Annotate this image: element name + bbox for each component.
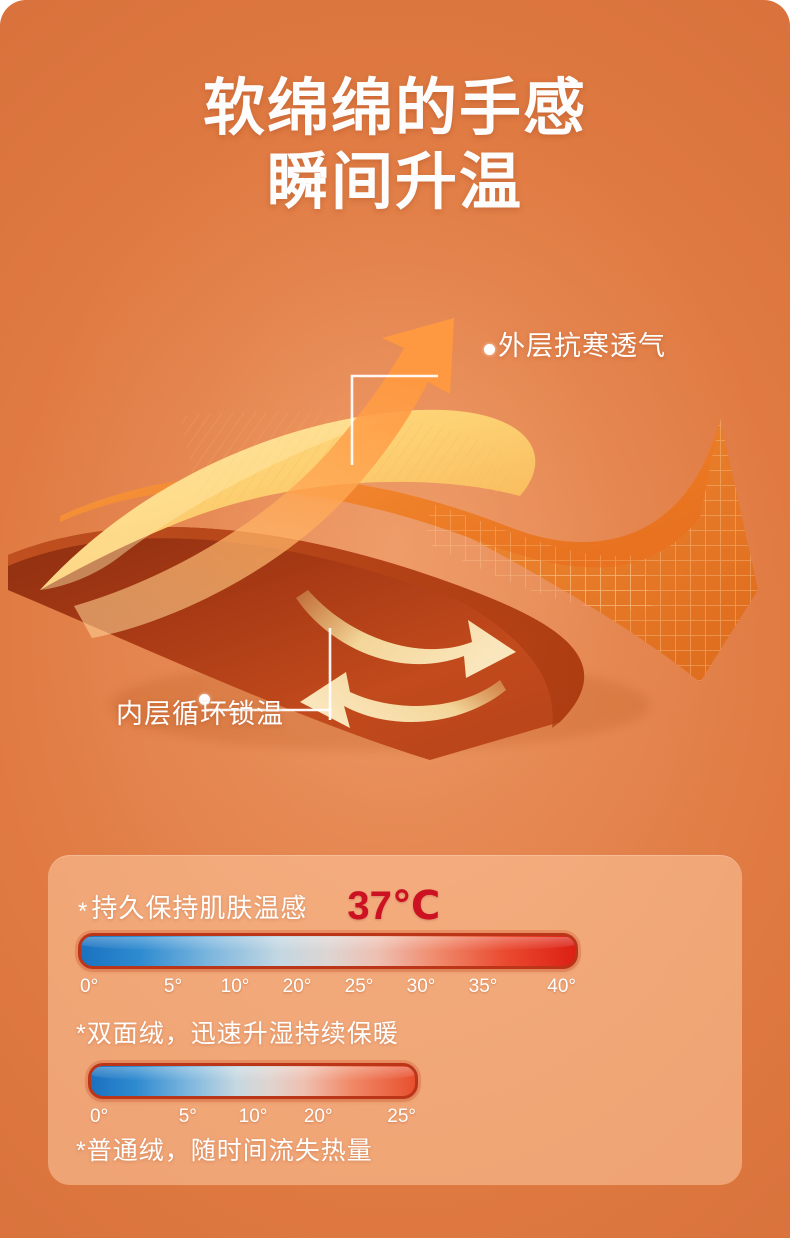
tick-label: 25° — [328, 976, 390, 998]
temperature-ticks-2: 0° 5° 10° 20° 25° — [88, 1106, 418, 1128]
tick-label: 20° — [266, 976, 328, 998]
normal-fleece-caption: *普通绒，随时间流失热量 — [76, 1131, 373, 1167]
tick-label: 0° — [88, 1106, 155, 1128]
tick-label: 35° — [452, 976, 514, 998]
temperature-ticks-1: 0° 5° 10° 20° 25° 30° 35° 40° — [78, 976, 578, 998]
bullet-star-icon: * — [78, 900, 87, 924]
temperature-bar-2 — [88, 1063, 418, 1099]
temperature-bar-1 — [78, 933, 578, 969]
tick-label: 5° — [142, 976, 204, 998]
outer-layer-label: 外层抗寒透气 — [498, 324, 666, 363]
product-feature-poster: 软绵绵的手感 瞬间升温 — [0, 0, 790, 1238]
headline-line-1: 软绵绵的手感 — [0, 72, 790, 146]
double-fleece-caption: *双面绒，迅速升湿持续保暖 — [76, 1014, 399, 1050]
tick-label: 5° — [155, 1106, 220, 1128]
temperature-scale-double-fleece: 0° 5° 10° 20° 25° 30° 35° 40° — [78, 933, 578, 998]
page-title: 软绵绵的手感 瞬间升温 — [0, 72, 790, 221]
fabric-layers-svg — [0, 290, 790, 760]
fabric-layers-illustration — [0, 290, 790, 760]
skin-temperature-text: 持久保持肌肤温感 — [91, 888, 307, 925]
headline-line-2: 瞬间升温 — [0, 146, 790, 220]
bar-gloss-1 — [81, 937, 575, 950]
tick-label: 30° — [390, 976, 452, 998]
tick-label: 40° — [514, 976, 578, 998]
outer-callout-dot — [484, 344, 495, 355]
tick-label: 10° — [220, 1106, 285, 1128]
bar-gloss-2 — [91, 1067, 415, 1080]
skin-temperature-row: * 持久保持肌肤温感 37℃ — [78, 883, 440, 929]
temperature-scale-normal-fleece: 0° 5° 10° 20° 25° — [88, 1063, 418, 1128]
tick-label: 25° — [351, 1106, 418, 1128]
tick-label: 10° — [204, 976, 266, 998]
tick-label: 0° — [78, 976, 142, 998]
inner-layer-label: 内层循环锁温 — [116, 692, 284, 731]
temperature-info-panel: * 持久保持肌肤温感 37℃ 0° 5° 10° 20° 25° 30° 35°… — [48, 855, 742, 1185]
tick-label: 20° — [286, 1106, 351, 1128]
temperature-value: 37℃ — [347, 883, 440, 929]
